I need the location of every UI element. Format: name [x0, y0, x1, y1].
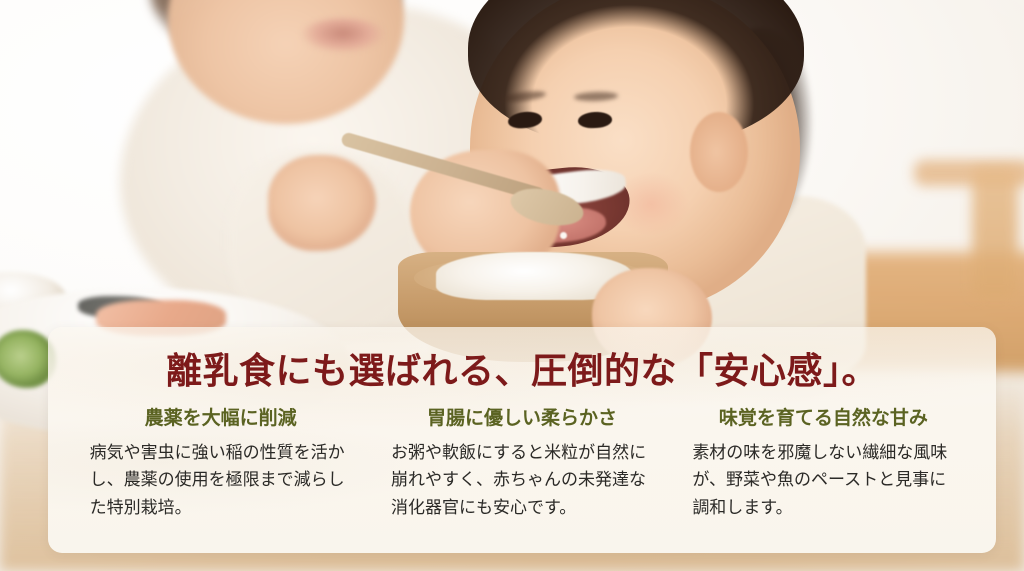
feature-column-pesticide: 農薬を大幅に削減 病気や害虫に強い稲の性質を活かし、農薬の使用を極限まで減らした…: [70, 409, 371, 521]
feature-title: 味覚を育てる自然な甘み: [673, 409, 974, 430]
feature-title: 農薬を大幅に削減: [70, 409, 371, 430]
feature-column-sweetness: 味覚を育てる自然な甘み 素材の味を邪魔しない繊細な風味が、野菜や魚のペーストと見…: [673, 409, 974, 521]
feature-card: 離乳食にも選ばれる、圧倒的な「安心感」。 農薬を大幅に削減 病気や害虫に強い稲の…: [48, 327, 996, 553]
hero-banner: 離乳食にも選ばれる、圧倒的な「安心感」。 農薬を大幅に削減 病気や害虫に強い稲の…: [0, 0, 1024, 571]
wooden-furniture-leg: [972, 168, 1018, 298]
card-headline: 離乳食にも選ばれる、圧倒的な「安心感」。: [48, 353, 996, 389]
feature-body: 病気や害虫に強い稲の性質を活かし、農薬の使用を極限まで減らした特別栽培。: [90, 439, 352, 522]
baby-ear: [690, 112, 748, 192]
rice-crumb: [560, 232, 567, 239]
feature-columns: 農薬を大幅に削減 病気や害虫に強い稲の性質を活かし、農薬の使用を極限まで減らした…: [48, 409, 996, 521]
feature-column-softness: 胃腸に優しい柔らかさ お粥や軟飯にすると米粒が自然に崩れやすく、赤ちゃんの未発達…: [371, 409, 672, 521]
feature-body: 素材の味を邪魔しない繊細な風味が、野菜や魚のペーストと見事に調和します。: [692, 439, 954, 522]
mother-smile: [300, 18, 386, 52]
feature-title: 胃腸に優しい柔らかさ: [371, 409, 672, 430]
feature-body: お粥や軟飯にすると米粒が自然に崩れやすく、赤ちゃんの未発達な消化器官にも安心です…: [391, 439, 653, 522]
